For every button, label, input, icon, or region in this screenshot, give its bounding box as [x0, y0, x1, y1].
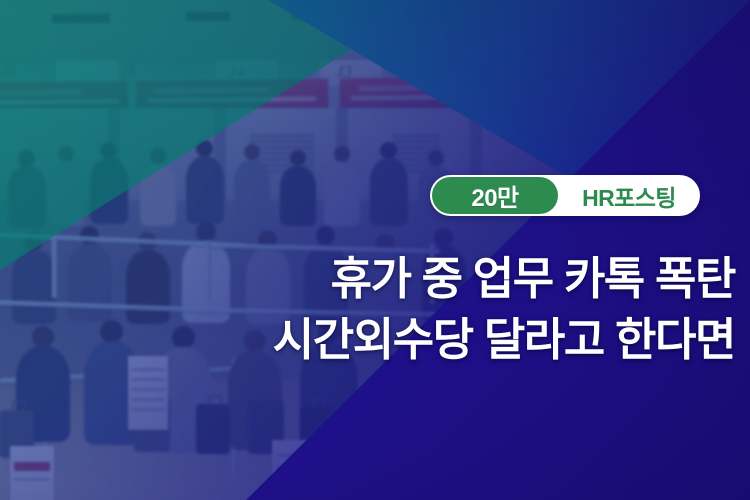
card-title: 휴가 중 업무 카톡 폭탄 시간외수당 달라고 한다면 [120, 248, 735, 370]
title-line-1: 휴가 중 업무 카톡 폭탄 [120, 248, 735, 309]
channel-badge[interactable]: 20만 HR포스팅 [430, 175, 700, 216]
title-line-2: 시간외수당 달라고 한다면 [120, 309, 735, 370]
subscriber-count-pill: 20만 [432, 177, 558, 214]
hr-posting-card: J6 J5 J4 J3 J2 [0, 0, 750, 500]
brand-name-label: HR포스팅 [558, 175, 700, 216]
